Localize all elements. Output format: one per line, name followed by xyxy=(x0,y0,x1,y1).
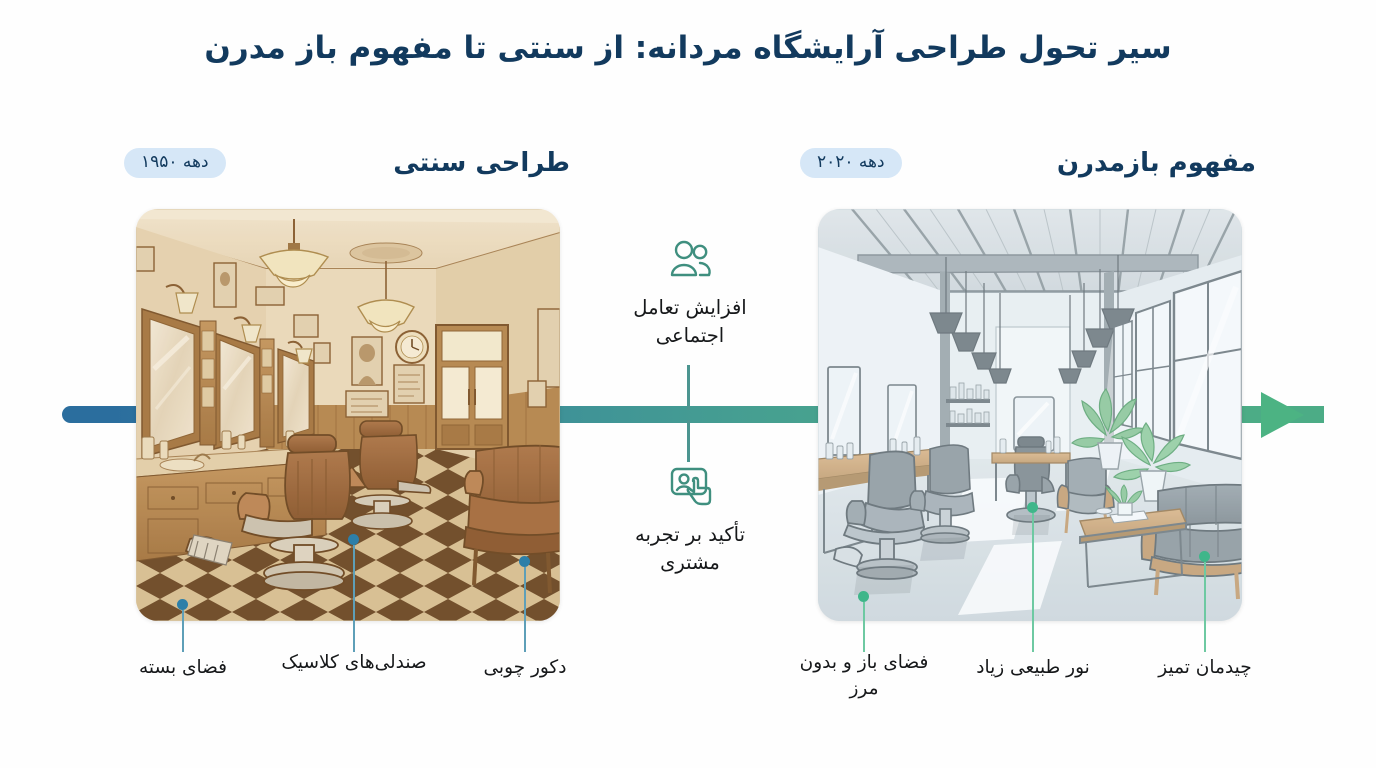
callout-dot xyxy=(1027,502,1038,513)
center-feature-label: افزایش تعامل اجتماعی xyxy=(592,294,788,351)
infographic-canvas: سیر تحول طراحی آرایشگاه مردانه: از سنتی … xyxy=(0,0,1376,768)
callout-line xyxy=(1204,562,1206,652)
section-header-traditional: طراحی سنتی دهه ۱۹۵۰ xyxy=(124,143,570,183)
callout-line xyxy=(1032,513,1034,652)
callout-dot xyxy=(177,599,188,610)
decade-badge-modern: دهه ۲۰۲۰ xyxy=(800,148,902,179)
section-title-modern: مفهوم بازمدرن xyxy=(1057,148,1256,178)
callout-dot xyxy=(519,556,530,567)
callout-line xyxy=(353,545,355,652)
callout-dot xyxy=(348,534,359,545)
callout-line xyxy=(524,567,526,652)
users-icon xyxy=(592,236,788,282)
callout-dot xyxy=(1199,551,1210,562)
center-feature-social-interaction: افزایش تعامل اجتماعی xyxy=(592,236,788,351)
center-connector-line-lower xyxy=(687,420,690,462)
callout-label-classic-chairs: صندلی‌های کلاسیک xyxy=(279,650,429,676)
center-feature-label: تأکید بر تجربه مشتری xyxy=(592,521,788,578)
callout-label-open-space: فضای باز و بدون مرز xyxy=(789,650,939,702)
callout-label-natural-light: نور طبیعی زیاد xyxy=(958,655,1108,681)
modern-salon-image xyxy=(818,209,1242,621)
customer-experience-icon xyxy=(592,463,788,509)
callout-label-clean-layout: چیدمان تمیز xyxy=(1130,655,1280,681)
decade-badge-traditional: دهه ۱۹۵۰ xyxy=(124,148,226,179)
callout-dot xyxy=(858,591,869,602)
center-feature-customer-experience: تأکید بر تجربه مشتری xyxy=(592,463,788,578)
timeline-arrow-icon xyxy=(1261,392,1304,438)
section-header-modern: مفهوم بازمدرن دهه ۲۰۲۰ xyxy=(800,143,1256,183)
section-title-traditional: طراحی سنتی xyxy=(393,148,570,178)
callout-line xyxy=(182,610,184,652)
center-connector-line-upper xyxy=(687,365,690,410)
callout-label-wooden-decor: دکور چوبی xyxy=(450,655,600,681)
callout-line xyxy=(863,602,865,652)
traditional-barbershop-image xyxy=(136,209,560,621)
page-title: سیر تحول طراحی آرایشگاه مردانه: از سنتی … xyxy=(0,28,1376,70)
callout-label-closed-space: فضای بسته xyxy=(108,655,258,681)
